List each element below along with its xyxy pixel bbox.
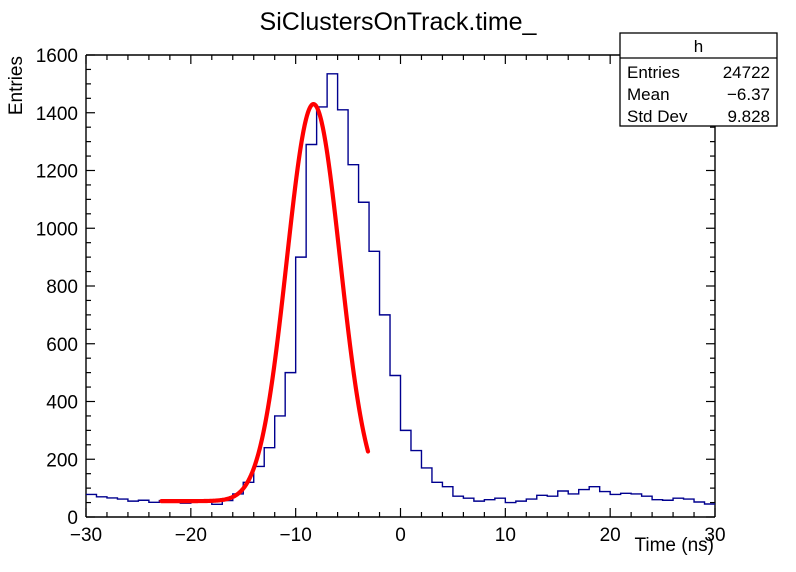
stats-row-label: Entries	[627, 63, 680, 82]
y-tick-label: 600	[46, 335, 78, 356]
y-tick-label: 1400	[36, 104, 78, 125]
stats-row-value: 9.828	[727, 107, 770, 126]
stats-row-label: Std Dev	[627, 107, 688, 126]
root-canvas: SiClustersOnTrack.time_ −30−20−100102030…	[0, 0, 796, 572]
y-tick-label: 1200	[36, 162, 78, 183]
x-tick-label: 0	[395, 525, 406, 546]
y-axis-title: Entries	[6, 56, 27, 115]
x-tick-label: 20	[600, 525, 621, 546]
x-axis-tick-labels: −30−20−100102030	[70, 525, 726, 546]
stats-box-title: h	[694, 37, 703, 56]
page-title: SiClustersOnTrack.time_	[260, 8, 538, 36]
y-axis-tick-labels: 02004006008001000120014001600	[36, 46, 78, 529]
x-axis-title: Time (ns)	[634, 535, 714, 556]
x-tick-label: 10	[495, 525, 516, 546]
stats-row-value: 24722	[723, 63, 770, 82]
histogram-plot: SiClustersOnTrack.time_ −30−20−100102030…	[0, 0, 796, 572]
y-tick-label: 0	[67, 508, 78, 529]
y-tick-label: 800	[46, 277, 78, 298]
y-tick-label: 200	[46, 450, 78, 471]
x-tick-label: −20	[175, 525, 207, 546]
y-tick-label: 400	[46, 393, 78, 414]
stats-box[interactable]: hEntries24722Mean−6.37Std Dev9.828	[620, 33, 777, 126]
stats-row-value: −6.37	[727, 85, 770, 104]
histogram-series	[86, 74, 715, 505]
stats-row-label: Mean	[627, 85, 670, 104]
gaussian-fit-curve	[161, 104, 368, 501]
y-tick-label: 1600	[36, 46, 78, 67]
x-tick-label: −10	[280, 525, 312, 546]
y-tick-label: 1000	[36, 219, 78, 240]
